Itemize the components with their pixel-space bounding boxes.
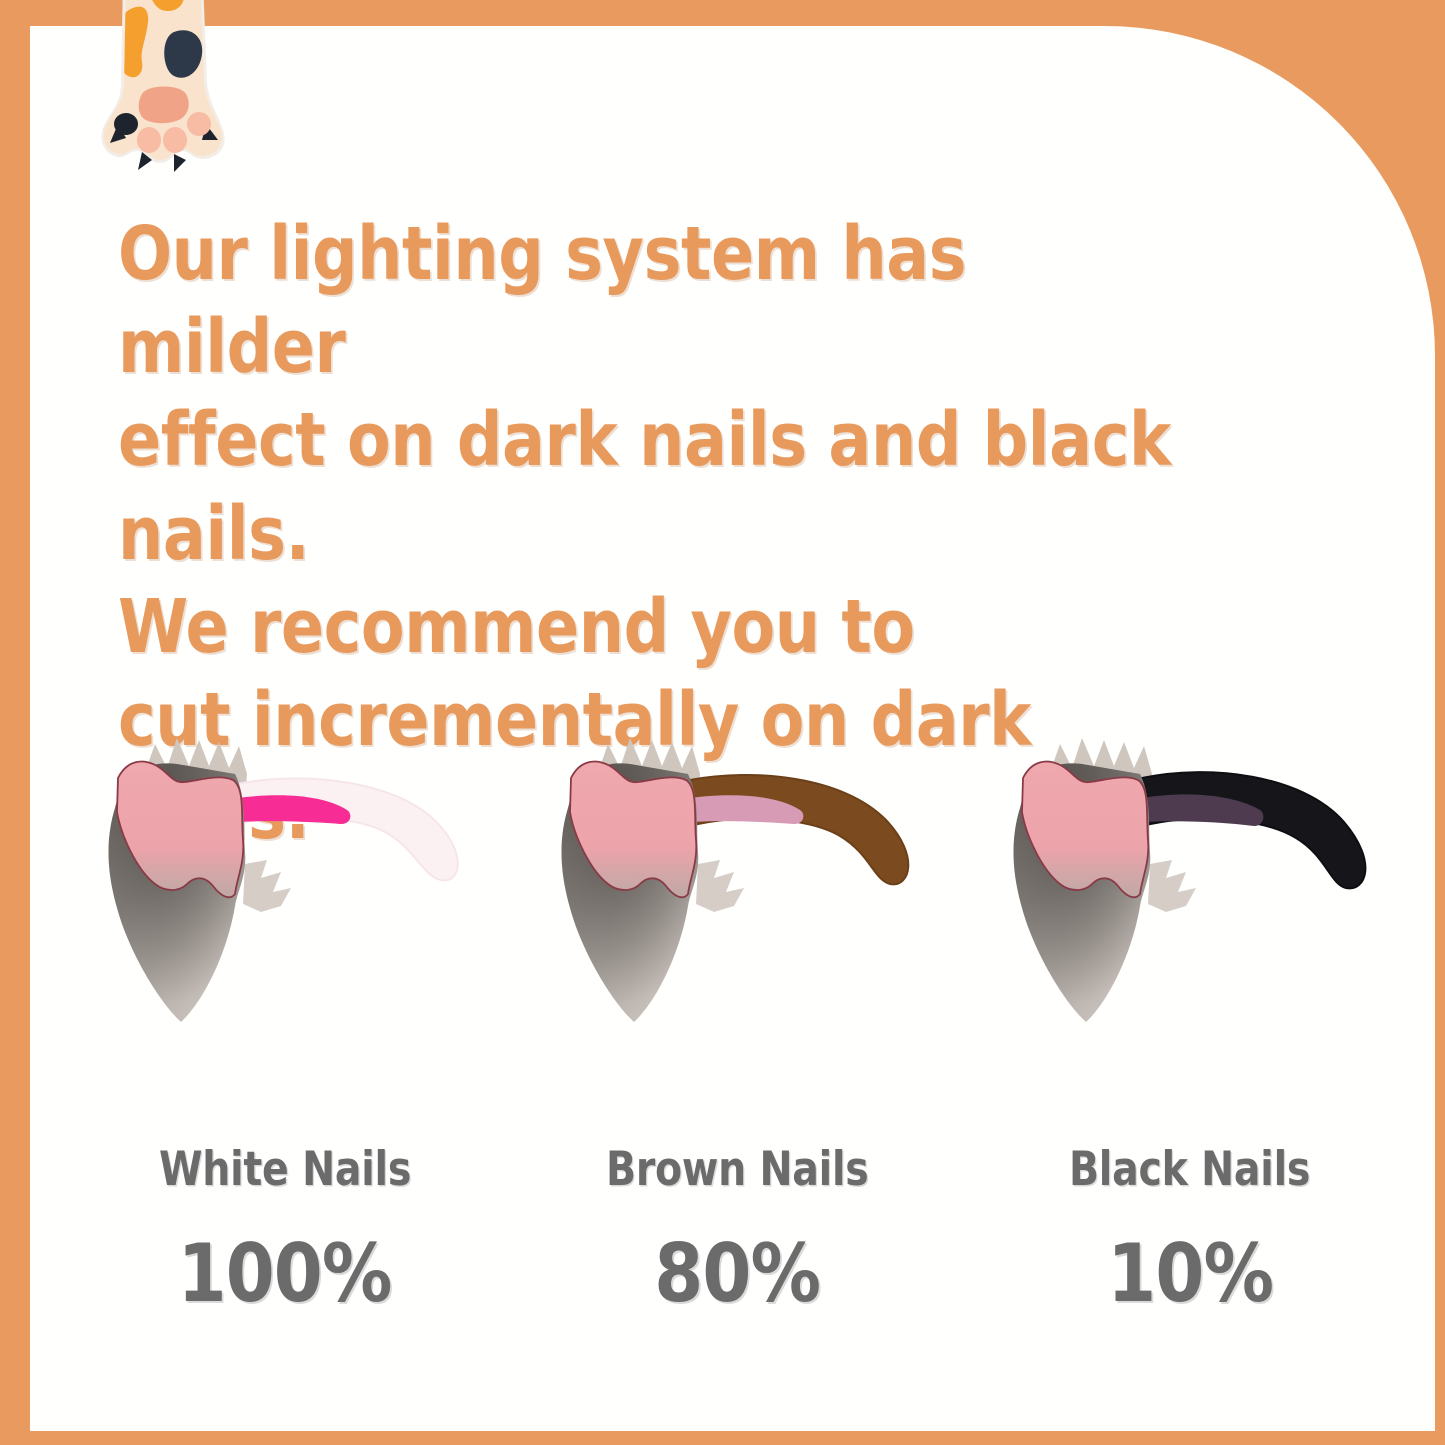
claw-shape — [1142, 772, 1365, 888]
nail-card-percent: 10% — [1107, 1227, 1273, 1320]
nail-comparison-row: White Nails 100% — [70, 716, 1405, 1320]
cat-paw-icon — [96, 0, 231, 178]
nail-illustration-black — [990, 716, 1390, 1046]
nail-card-percent: 80% — [655, 1227, 821, 1320]
nail-card-label: White Nails — [159, 1142, 411, 1197]
nail-card-percent: 100% — [178, 1227, 392, 1320]
fur-tuft-bottom — [243, 860, 291, 912]
nail-illustration-white — [85, 716, 485, 1046]
nail-card-black-nails: Black Nails 10% — [975, 716, 1405, 1320]
fur-tuft-bottom — [696, 860, 744, 912]
nail-illustration-brown — [538, 716, 938, 1046]
poster-frame: Our lighting system has milder effect on… — [0, 0, 1445, 1445]
nail-card-label: Black Nails — [1069, 1142, 1310, 1197]
claw-shape — [237, 778, 458, 880]
fur-tuft-bottom — [1148, 860, 1196, 912]
nail-card-white-nails: White Nails 100% — [70, 716, 500, 1320]
nail-card-brown-nails: Brown Nails 80% — [523, 716, 953, 1320]
claw-shape — [690, 775, 908, 884]
nail-card-label: Brown Nails — [606, 1142, 868, 1197]
paw-main-pad — [139, 87, 189, 124]
